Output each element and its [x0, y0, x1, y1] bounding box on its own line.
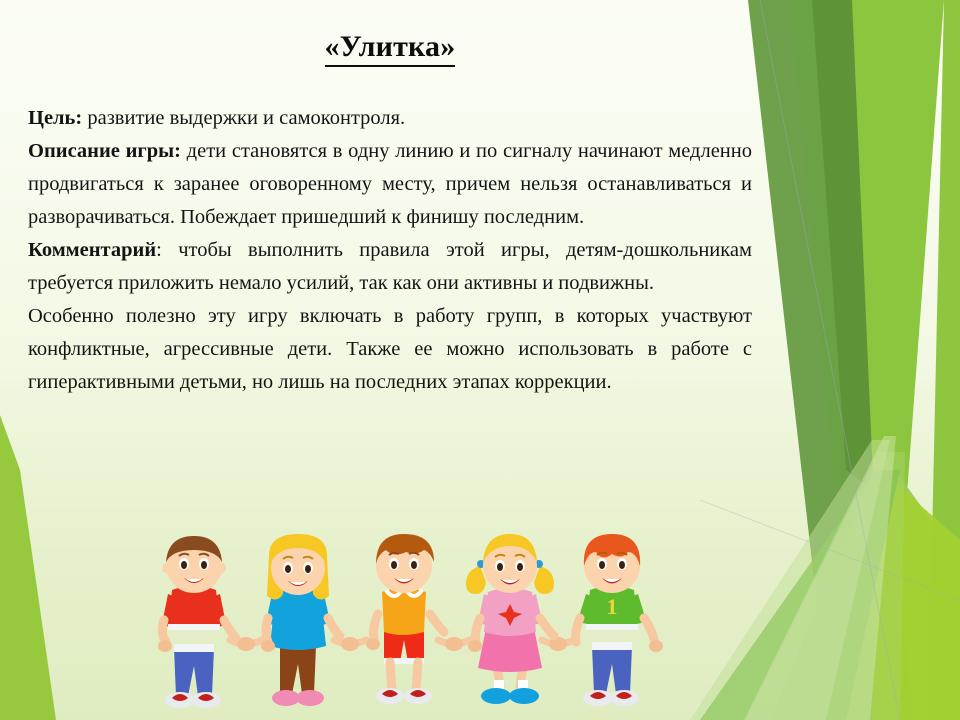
- label-goal: Цель:: [28, 107, 82, 129]
- paragraph-goal: Цель: развитие выдержки и самоконтроля.: [28, 102, 752, 135]
- shape-soft-green-translucent-2: [690, 440, 890, 720]
- slide-content: «Улитка» Цель: развитие выдержки и самок…: [0, 0, 780, 399]
- shape-bright-green-edge: [928, 0, 960, 720]
- text-note: Особенно полезно эту игру включать в раб…: [28, 305, 752, 393]
- label-comment: Комментарий: [28, 239, 156, 261]
- child-shirt-number: 1: [607, 594, 618, 619]
- slide-canvas: «Улитка» Цель: развитие выдержки и самок…: [0, 0, 960, 720]
- paragraph-comment: Комментарий: чтобы выполнить правила это…: [28, 234, 752, 300]
- child-1-boy-red-shirt: [158, 536, 236, 708]
- page-title-text: «Улитка»: [325, 30, 456, 67]
- shape-left-green-wedge: [0, 415, 56, 720]
- child-5-boy-green-shirt: 1: [576, 534, 664, 706]
- body-text-block: Цель: развитие выдержки и самоконтроля. …: [0, 64, 780, 399]
- shape-soft-green-translucent-1: [746, 452, 905, 720]
- paragraph-description: Описание игры: дети становятся в одну ли…: [28, 135, 752, 234]
- child-4-girl-pink-dress: [466, 534, 554, 704]
- shape-bright-green-right-top: [852, 0, 944, 520]
- child-2-girl-blue-top: [261, 534, 340, 706]
- hairline-diagonal-2: [700, 500, 960, 600]
- shape-mid-green-broad-top: [790, 0, 912, 720]
- page-title: «Улитка»: [0, 0, 780, 64]
- hairline-diagonal-1: [760, 0, 900, 720]
- text-goal: развитие выдержки и самоконтроля.: [82, 107, 405, 129]
- shape-dark-green-wedge: [812, 0, 886, 500]
- shape-bright-green-lower-right: [872, 470, 960, 720]
- child-3-boy-orange-tank: [366, 534, 444, 704]
- shape-soft-green-translucent-3: [744, 436, 896, 720]
- shape-mid-green-lower-sweep: [700, 470, 900, 720]
- paragraph-note: Особенно полезно эту игру включать в раб…: [28, 300, 752, 399]
- shape-pale-green-lower-left: [770, 452, 960, 720]
- label-description: Описание игры:: [28, 140, 181, 162]
- children-holding-hands-illustration: 1: [138, 528, 678, 720]
